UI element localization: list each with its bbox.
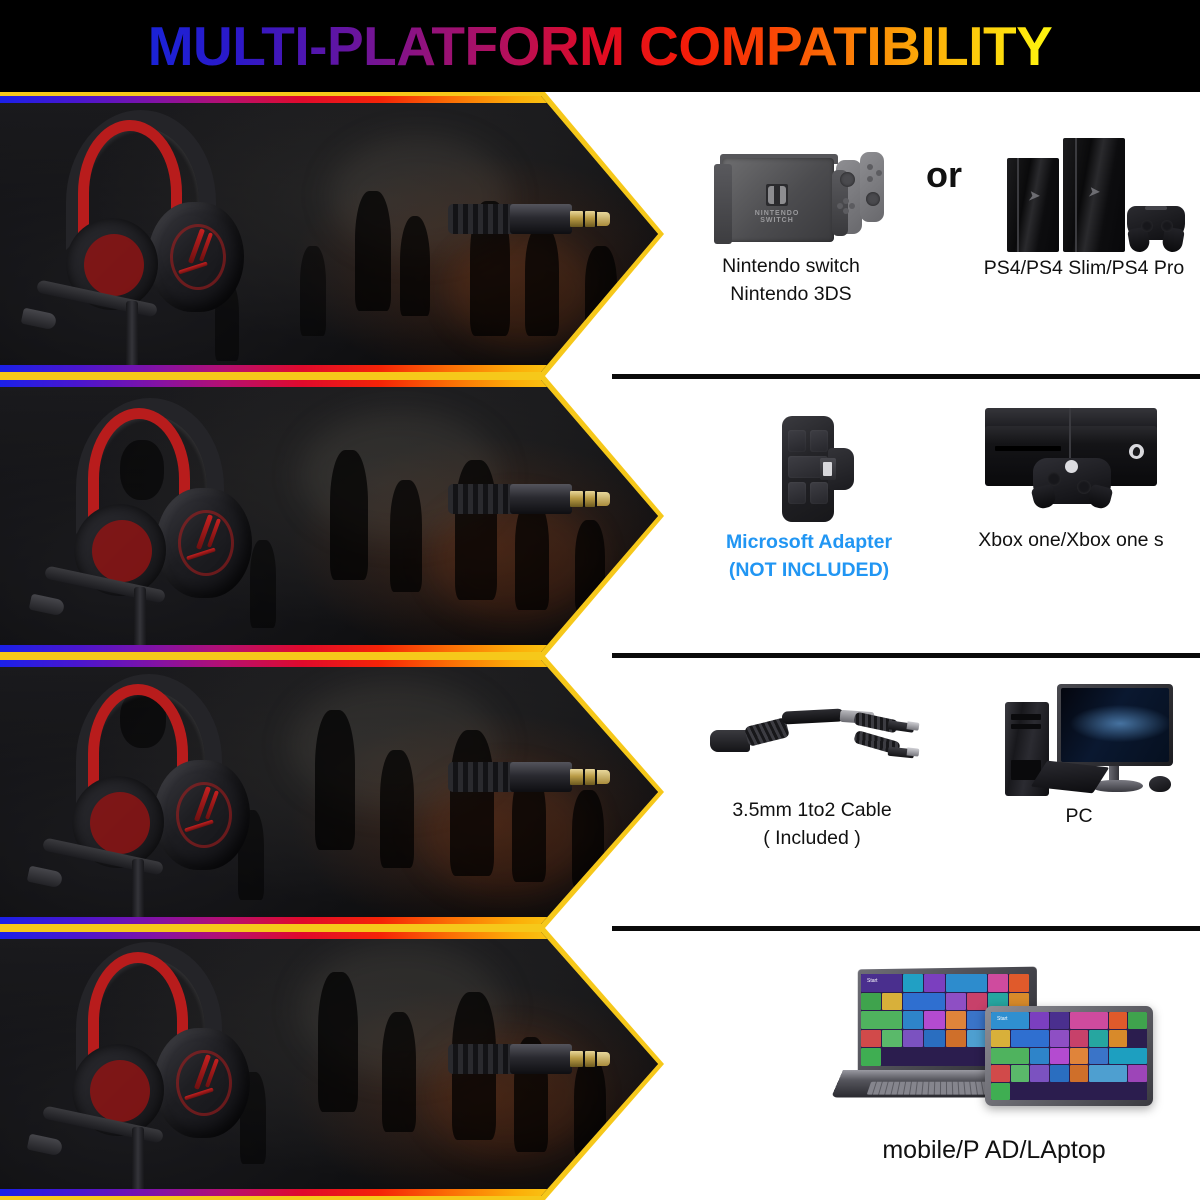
desktop-pc-icon	[979, 678, 1179, 802]
item-mobile-pad-laptop[interactable]: Start	[814, 966, 1174, 1168]
rgb-accent-bottom	[0, 365, 560, 372]
item-ps4[interactable]: ➤ ➤ PS4/PS4 Slim/PS4 Pro	[969, 132, 1199, 282]
gaming-headset-product	[28, 394, 268, 652]
row-divider	[612, 926, 1200, 931]
audio-jack-3-5mm	[448, 762, 610, 792]
audio-jack-3-5mm	[448, 1044, 610, 1074]
compatibility-items-row-2: Microsoft Adapter (NOT INCLUDED)	[664, 376, 1200, 656]
row-nintendo-ps4: NINTENDOSWITCH Nintendo switch Nintendo …	[0, 92, 1200, 376]
title-bar: MULTI-PLATFORM COMPATIBILITY	[0, 0, 1200, 92]
item-xbox-one[interactable]: Xbox one/Xbox one s	[946, 398, 1196, 554]
compatibility-items-row-1: NINTENDOSWITCH Nintendo switch Nintendo …	[664, 92, 1200, 376]
item-pc[interactable]: PC	[964, 678, 1194, 830]
row-divider	[612, 653, 1200, 658]
laptop-tablet-icon: Start	[829, 966, 1159, 1118]
item-label: Xbox one/Xbox one s	[946, 526, 1196, 554]
compatibility-items-row-4: Start	[664, 928, 1200, 1200]
rgb-accent-top	[0, 380, 560, 387]
rgb-accent-bottom	[0, 1189, 560, 1196]
product-photo-panel-2	[0, 376, 664, 656]
item-label: PS4/PS4 Slim/PS4 Pro	[969, 254, 1199, 282]
row-divider	[612, 374, 1200, 379]
microsoft-adapter-icon	[754, 410, 864, 528]
ps4-console-icon: ➤ ➤	[979, 132, 1189, 254]
compatibility-items-row-3: 3.5mm 1to2 Cable ( Included ) PC	[664, 656, 1200, 928]
item-label: Nintendo 3DS	[686, 280, 896, 308]
rgb-accent-top	[0, 96, 560, 103]
row-mobile: Start	[0, 928, 1200, 1200]
gaming-headset-product	[28, 670, 268, 924]
gaming-headset-product	[18, 106, 258, 371]
item-label: Nintendo switch	[686, 252, 896, 280]
xbox-one-console-icon	[971, 398, 1171, 526]
gaming-headset-product	[28, 938, 268, 1192]
item-label: PC	[964, 802, 1194, 830]
audio-jack-3-5mm	[448, 484, 610, 514]
item-label: ( Included )	[692, 824, 932, 852]
rgb-accent-top	[0, 660, 560, 667]
item-label: (NOT INCLUDED)	[694, 556, 924, 584]
item-label: Microsoft Adapter	[694, 528, 924, 556]
rgb-accent-top	[0, 932, 560, 939]
audio-jack-3-5mm	[448, 204, 610, 234]
page-title: MULTI-PLATFORM COMPATIBILITY	[148, 14, 1053, 78]
row-pc: 3.5mm 1to2 Cable ( Included ) PC	[0, 656, 1200, 928]
item-label: mobile/P AD/LAptop	[814, 1132, 1174, 1168]
product-photo-panel-4	[0, 928, 664, 1200]
nintendo-switch-icon: NINTENDOSWITCH	[698, 140, 884, 252]
row-xbox: Microsoft Adapter (NOT INCLUDED)	[0, 376, 1200, 656]
rgb-accent-bottom	[0, 917, 560, 924]
item-label: 3.5mm 1to2 Cable	[692, 796, 932, 824]
rgb-accent-bottom	[0, 645, 560, 652]
product-photo-panel-1	[0, 92, 664, 376]
item-microsoft-adapter[interactable]: Microsoft Adapter (NOT INCLUDED)	[694, 410, 924, 585]
item-splitter-cable[interactable]: 3.5mm 1to2 Cable ( Included )	[692, 686, 932, 853]
splitter-cable-icon	[702, 686, 922, 796]
product-photo-panel-3	[0, 656, 664, 928]
item-nintendo-switch[interactable]: NINTENDOSWITCH Nintendo switch Nintendo …	[686, 140, 896, 309]
infographic-page: MULTI-PLATFORM COMPATIBILITY	[0, 0, 1200, 1200]
connector-word-or: or	[926, 154, 962, 196]
